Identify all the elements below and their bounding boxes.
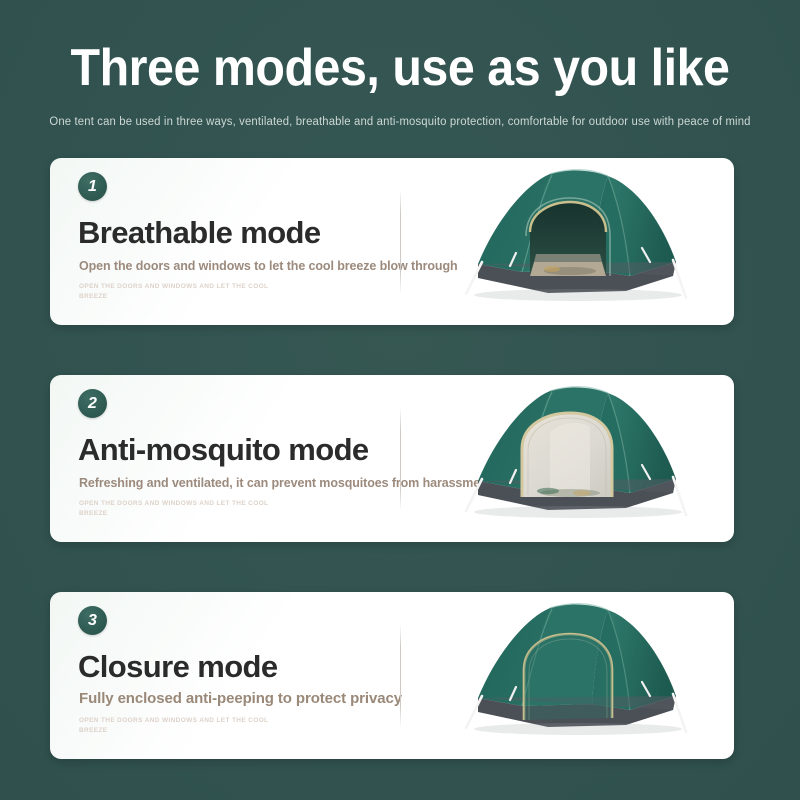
step-number-badge: 3 [78,606,107,635]
card-content: 3 Closure mode Fully enclosed anti-peepi… [78,592,458,759]
card-content: 1 Breathable mode Open the doors and win… [78,158,458,325]
step-number-badge: 1 [78,172,107,201]
step-number-badge: 2 [78,389,107,418]
mode-card-closure[interactable]: 3 Closure mode Fully enclosed anti-peepi… [50,592,734,759]
page-title: Three modes, use as you like [28,0,772,98]
card-ghost-text: OPEN THE DOORS AND WINDOWS AND LET THE C… [79,282,294,302]
card-ghost-text: OPEN THE DOORS AND WINDOWS AND LET THE C… [79,499,294,519]
mode-card-anti-mosquito[interactable]: 2 Anti-mosquito mode Refreshing and vent… [50,375,734,542]
tent-mosquito-net-icon [430,375,730,542]
card-content: 2 Anti-mosquito mode Refreshing and vent… [78,375,458,542]
card-title: Closure mode [78,649,278,685]
page-subtitle: One tent can be used in three ways, vent… [6,98,794,130]
card-divider [400,624,401,728]
tent-breathable-icon [430,158,730,325]
mode-card-breathable[interactable]: 1 Breathable mode Open the doors and win… [50,158,734,325]
card-ghost-text: OPEN THE DOORS AND WINDOWS AND LET THE C… [79,716,294,736]
card-title: Breathable mode [78,215,321,251]
card-divider [400,190,401,294]
page-header: Three modes, use as you like One tent ca… [0,0,800,130]
card-divider [400,407,401,511]
card-description: Fully enclosed anti-peeping to protect p… [79,690,402,707]
promo-page: Three modes, use as you like One tent ca… [0,0,800,800]
mode-card-list: 1 Breathable mode Open the doors and win… [50,158,734,759]
tent-closed-icon [430,592,730,759]
card-title: Anti-mosquito mode [78,432,369,468]
